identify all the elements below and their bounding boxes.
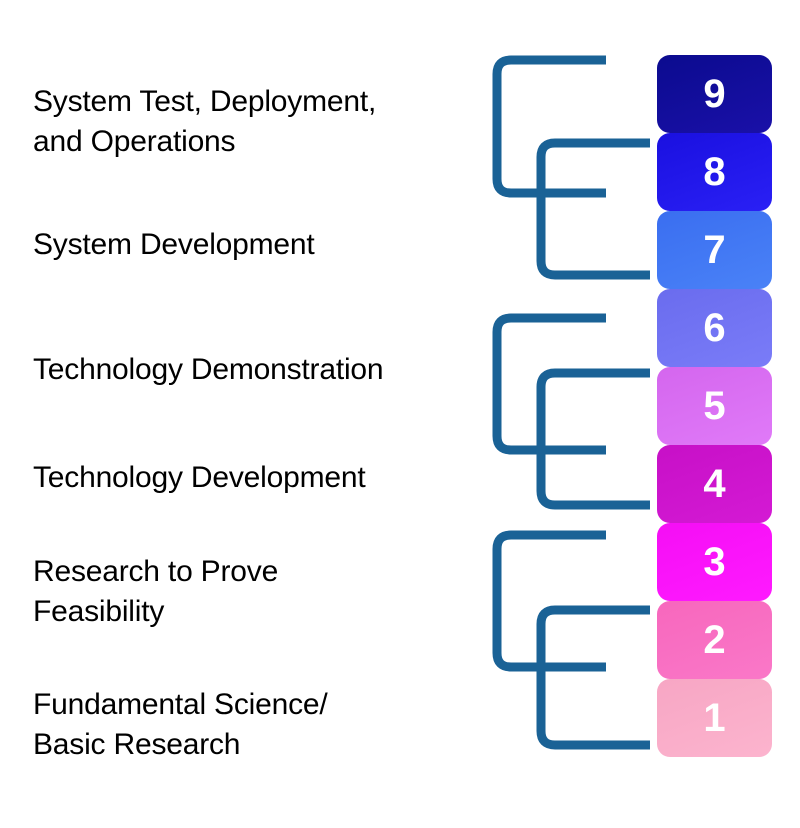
trl-block-7[interactable]: 7: [657, 211, 772, 289]
trl-number-3: 3: [703, 542, 725, 582]
bracket-inner-level-1: [541, 610, 650, 745]
label-system-development: System Development: [33, 225, 493, 265]
trl-block-9[interactable]: 9: [657, 55, 772, 133]
trl-number-7: 7: [703, 230, 725, 270]
trl-block-8[interactable]: 8: [657, 133, 772, 211]
bracket-inner-level-4: [541, 373, 650, 505]
label-technology-development: Technology Development: [33, 458, 493, 498]
bracket-outer-levels-6-5: [497, 318, 606, 450]
trl-number-8: 8: [703, 152, 725, 192]
bracket-outer-levels-3-2: [497, 535, 606, 667]
trl-number-5: 5: [703, 386, 725, 426]
label-technology-demonstration: Technology Demonstration: [33, 350, 493, 390]
bracket-outer-levels-9-8: [497, 60, 606, 193]
trl-number-6: 6: [703, 308, 725, 348]
trl-number-9: 9: [703, 74, 725, 114]
trl-block-5[interactable]: 5: [657, 367, 772, 445]
label-system-test-deployment-operations: System Test, Deployment, and Operations: [33, 82, 493, 162]
label-fundamental-science-basic-research: Fundamental Science/ Basic Research: [33, 685, 493, 765]
trl-number-1: 1: [703, 698, 725, 738]
trl-diagram: System Test, Deployment, and Operations …: [0, 0, 800, 828]
trl-block-4[interactable]: 4: [657, 445, 772, 523]
trl-block-2[interactable]: 2: [657, 601, 772, 679]
bracket-inner-level-7: [541, 143, 650, 275]
trl-block-1[interactable]: 1: [657, 679, 772, 757]
label-research-to-prove-feasibility: Research to Prove Feasibility: [33, 552, 493, 632]
trl-block-3[interactable]: 3: [657, 523, 772, 601]
trl-number-2: 2: [703, 620, 725, 660]
trl-number-4: 4: [703, 464, 725, 504]
trl-block-6[interactable]: 6: [657, 289, 772, 367]
